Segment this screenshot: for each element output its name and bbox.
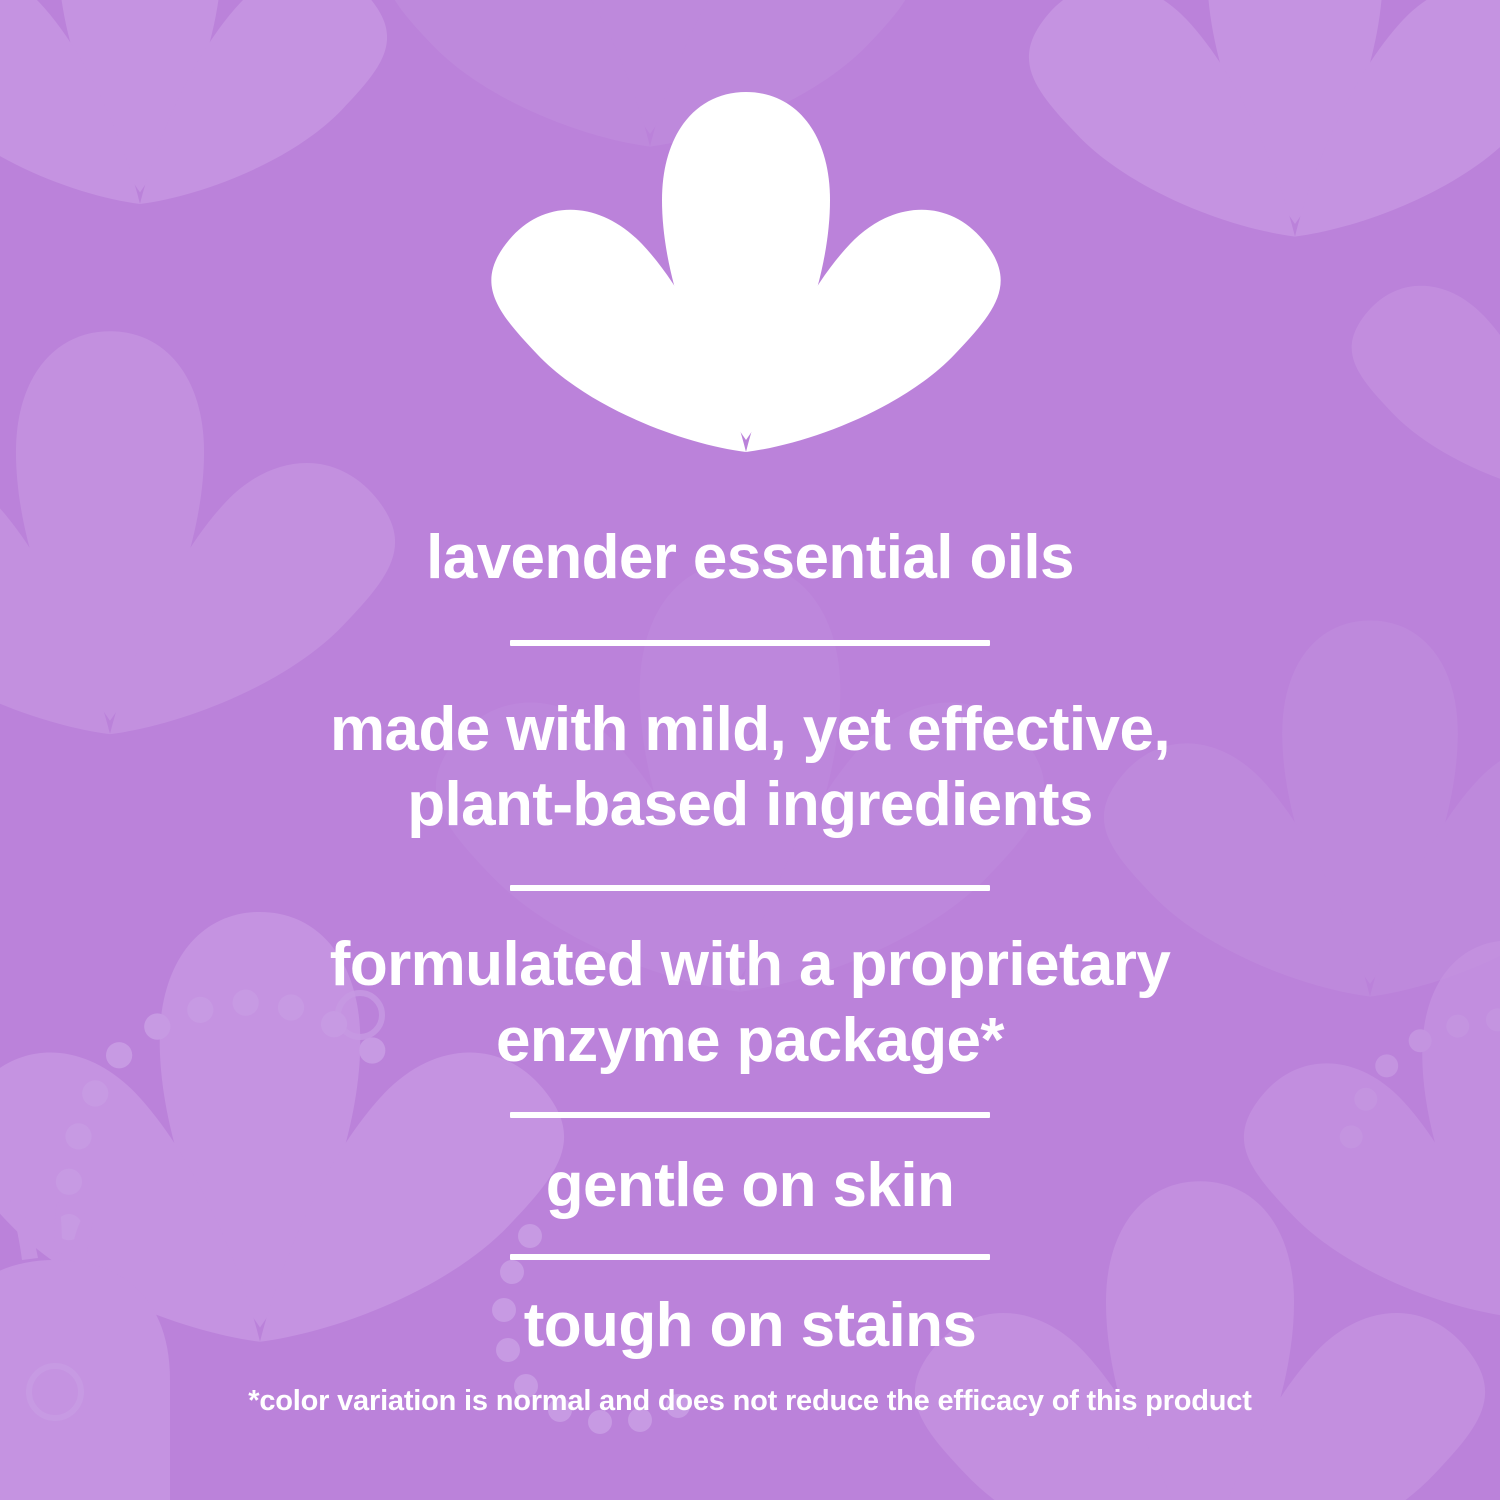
spacer [0, 646, 1500, 692]
product-benefits-panel: lavender essential oils made with mild, … [0, 0, 1500, 1500]
watermark-flower-top-right [1015, 0, 1500, 260]
lavender-flower-logo [478, 92, 1014, 474]
spacer [0, 1078, 1500, 1112]
spacer [0, 1118, 1500, 1148]
benefit-item-1: lavender essential oils [0, 520, 1500, 596]
benefit-item-4: gentle on skin [0, 1148, 1500, 1224]
benefit-item-3: formulated with a proprietary enzyme pac… [0, 927, 1500, 1078]
benefits-list: lavender essential oils made with mild, … [0, 520, 1500, 1363]
watermark-flower-top-left [0, 0, 400, 230]
spacer [0, 596, 1500, 640]
watermark-flower-right-edge [1340, 180, 1500, 520]
spacer [0, 843, 1500, 885]
benefit-item-5: tough on stains [0, 1288, 1500, 1364]
spacer [0, 1260, 1500, 1288]
benefit-item-2: made with mild, yet effective, plant-bas… [0, 692, 1500, 843]
footnote-disclaimer: *color variation is normal and does not … [0, 1385, 1500, 1418]
spacer [0, 1224, 1500, 1254]
spacer [0, 891, 1500, 927]
